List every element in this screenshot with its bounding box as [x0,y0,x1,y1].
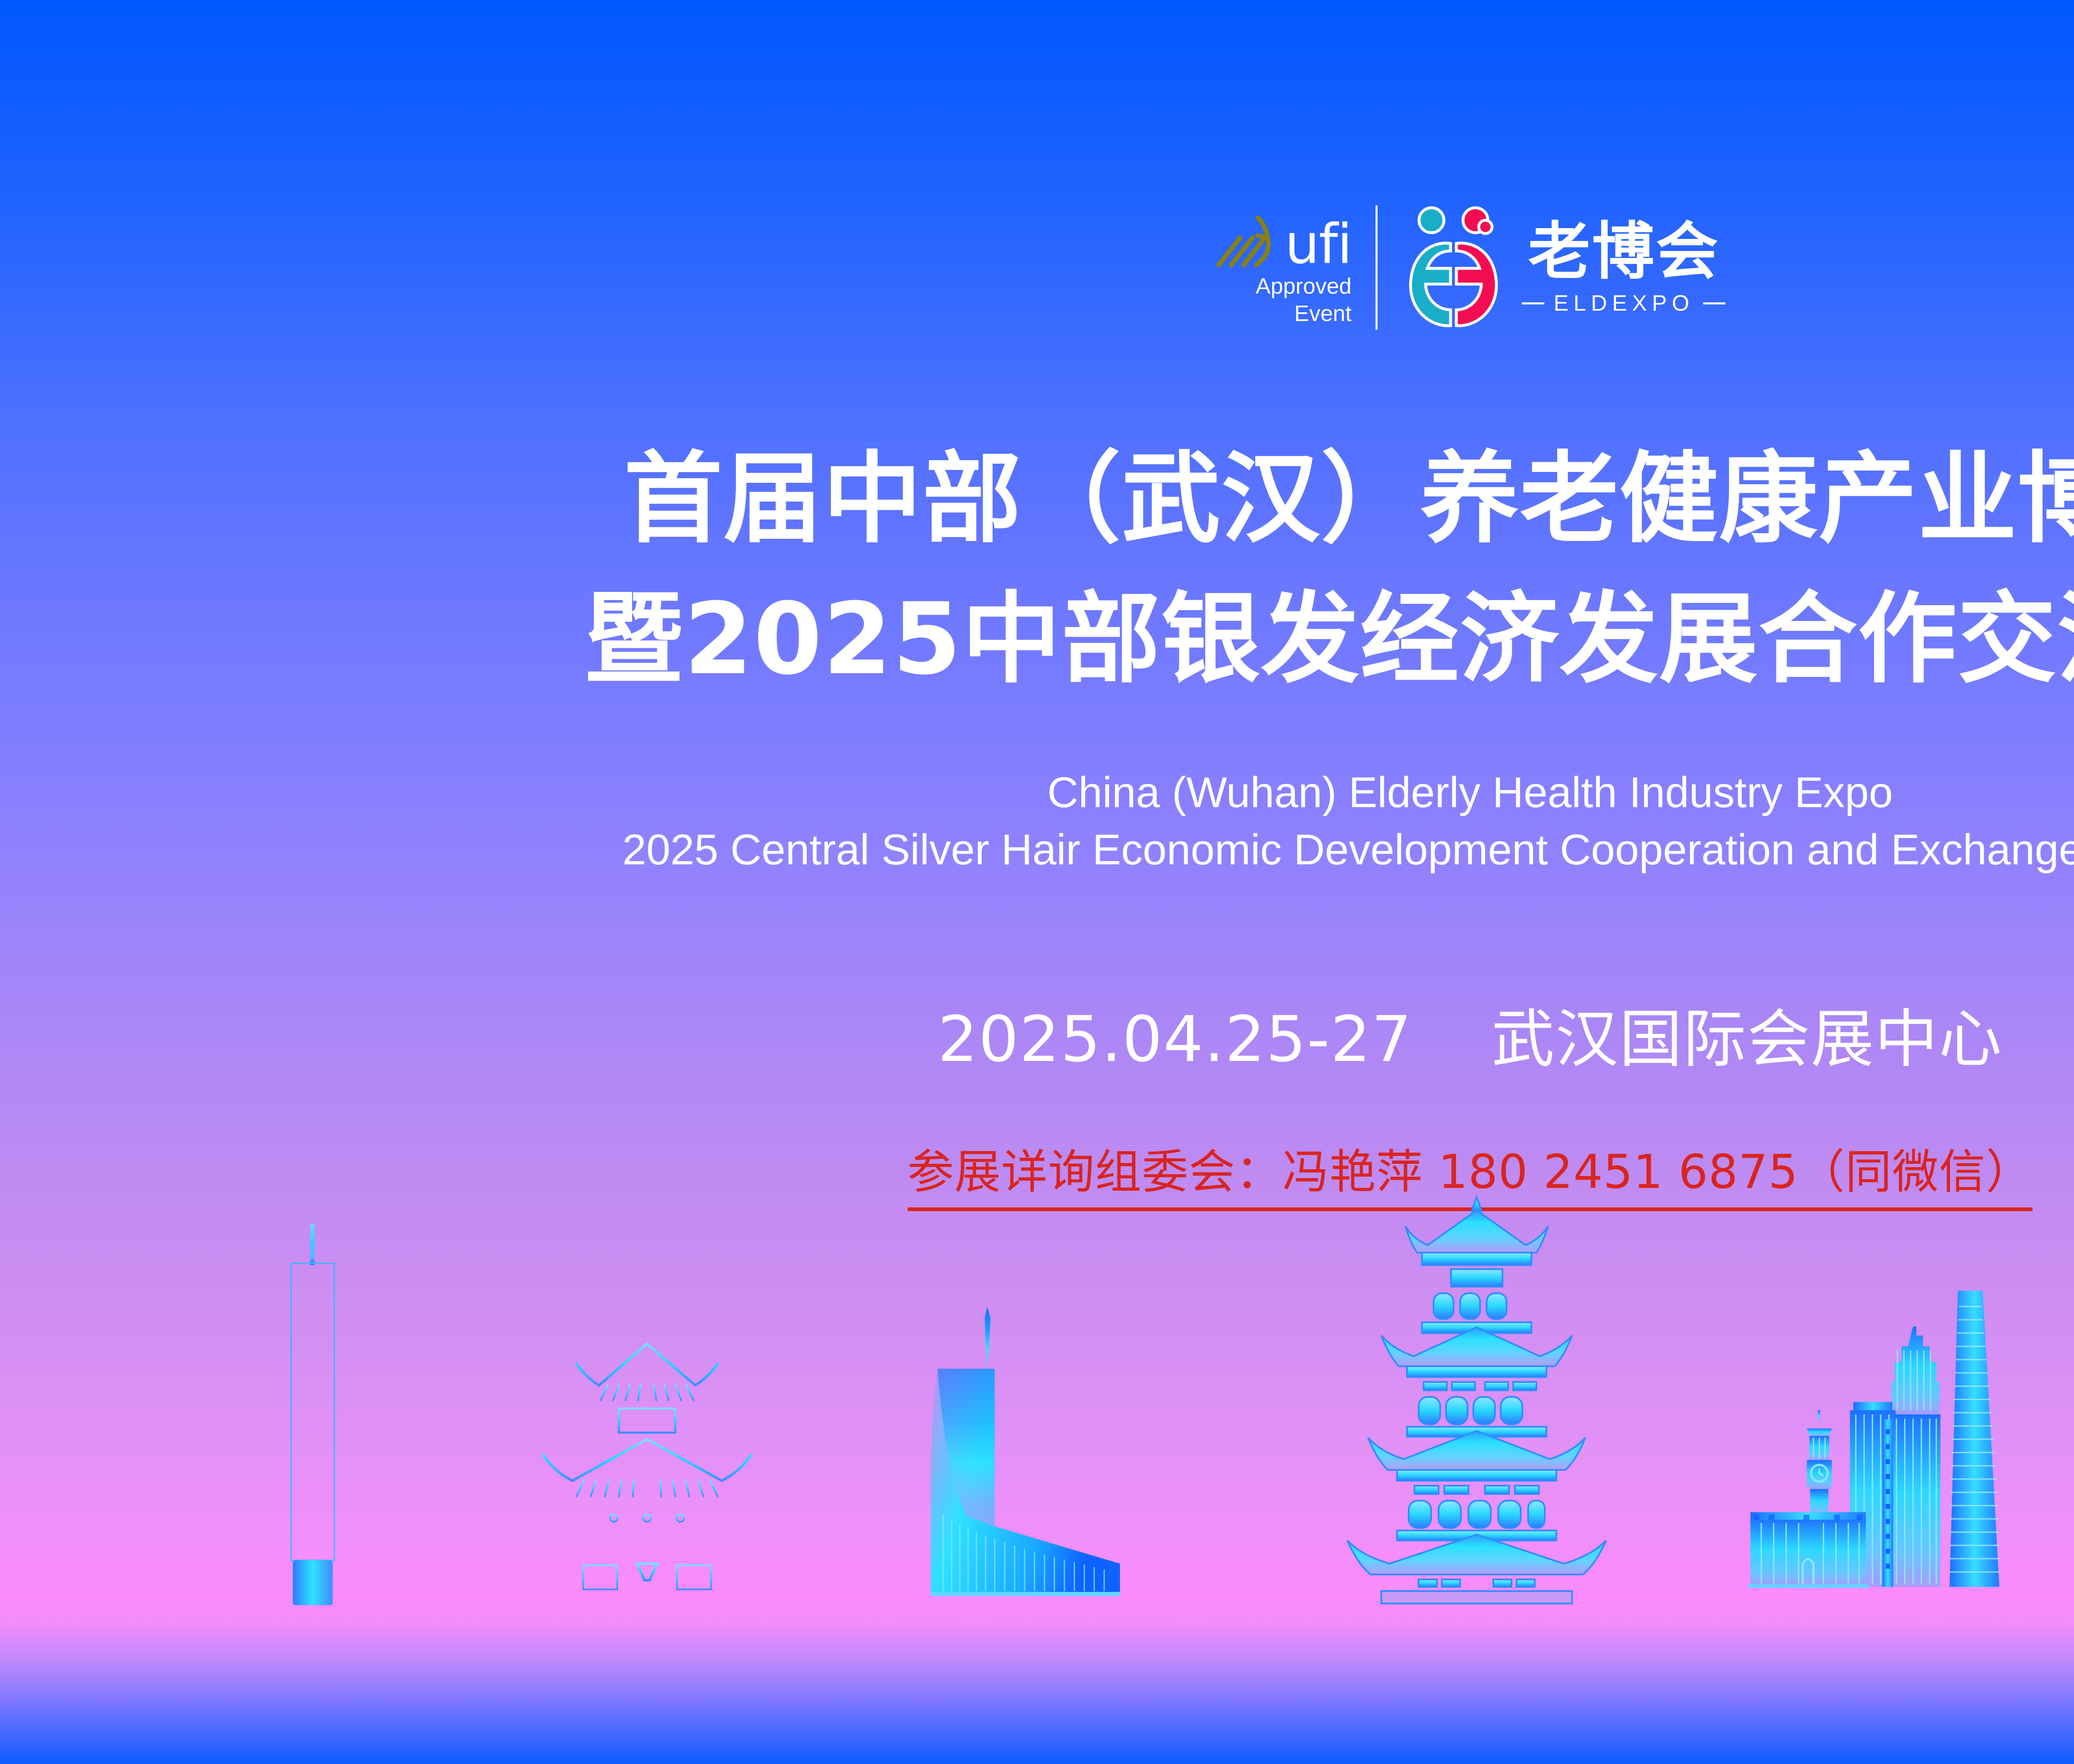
title-line-2: 暨2025中部银发经济发展合作交流大会 [0,569,2074,710]
yellow-crane-tower-icon [1319,1190,1634,1605]
landmark-yellow-crane-tower [1319,1190,1634,1605]
guqin-terrace-pavilion-icon [510,1315,784,1605]
ufi-approved-event-logo: ufi Approved Event [1215,207,1352,328]
hankou-customs-house-icon [1726,1273,2033,1605]
landmark-guqin-terrace-pavilion [510,1315,784,1605]
eldexpo-rule-left [1522,302,1544,304]
landmark-minsheng-bank-tower [265,1224,361,1605]
main-title: 首届中部（武汉）养老健康产业博览会 暨2025中部银发经济发展合作交流大会 [0,429,2074,710]
eldexpo-en-name: ELDEXPO [1553,292,1694,314]
ufi-approved-line1: Approved [1256,273,1351,300]
ufi-wordmark-row: ufi [1215,207,1352,270]
minsheng-bank-tower-icon [265,1224,361,1605]
english-subtitle: China (Wuhan) Elderly Health Industry Ex… [0,764,2074,879]
eldexpo-en-row: ELDEXPO [1522,292,1726,314]
subtitle-line-1: China (Wuhan) Elderly Health Industry Ex… [0,764,2074,821]
landmark-revolution-monument [925,1307,1182,1605]
wuhan-skyline [0,1157,2074,1605]
title-line-1: 首届中部（武汉）养老健康产业博览会 [0,429,2074,569]
eldexpo-rule-right [1703,302,1726,304]
ufi-approved-label: Approved Event [1256,273,1351,328]
eldexpo-logo: 老博会 ELDEXPO [1402,205,1726,330]
event-poster: ufi Approved Event 老博会 [0,0,2074,1764]
event-date: 2025.04.25-27 [937,1002,1412,1076]
eldexpo-people-icon [1402,205,1505,330]
revolution-monument-icon [925,1307,1182,1605]
logo-bar: ufi Approved Event 老博会 [0,189,2074,346]
eldexpo-text-block: 老博会 ELDEXPO [1522,221,1726,314]
ufi-approved-line2: Event [1256,300,1351,328]
ufi-swoosh-icon [1215,214,1281,270]
event-venue: 武汉国际会展中心 [1492,1002,2003,1076]
ufi-wordmark: ufi [1285,219,1352,270]
logo-divider [1375,205,1378,330]
subtitle-line-2: 2025 Central Silver Hair Economic Develo… [0,821,2074,878]
eldexpo-cn-name: 老博会 [1528,221,1720,283]
date-venue-row: 2025.04.25-27 武汉国际会展中心 [0,988,2074,1079]
landmark-hankou-customs-house [1726,1273,2033,1605]
